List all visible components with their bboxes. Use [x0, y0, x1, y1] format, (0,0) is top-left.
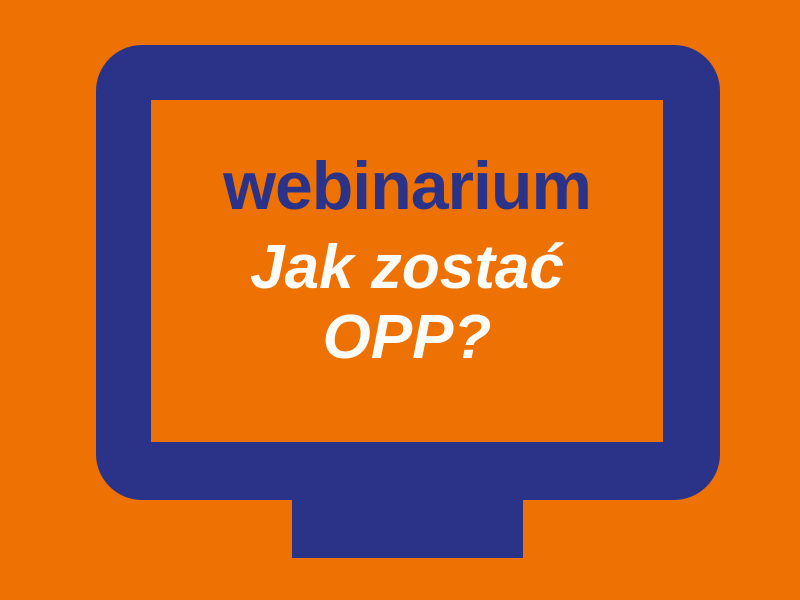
subtitle-block: Jak zostać OPP?: [151, 233, 663, 372]
monitor-screen: webinarium Jak zostać OPP?: [151, 100, 663, 442]
monitor-bezel: webinarium Jak zostać OPP?: [96, 45, 720, 500]
headline-webinarium: webinarium: [151, 152, 663, 221]
screen-text-block: webinarium Jak zostać OPP?: [151, 100, 663, 372]
monitor-stand-neck: [292, 498, 523, 558]
poster-canvas: webinarium Jak zostać OPP?: [0, 0, 800, 600]
subtitle-line-2: OPP?: [151, 303, 663, 372]
subtitle-line-1: Jak zostać: [151, 233, 663, 302]
